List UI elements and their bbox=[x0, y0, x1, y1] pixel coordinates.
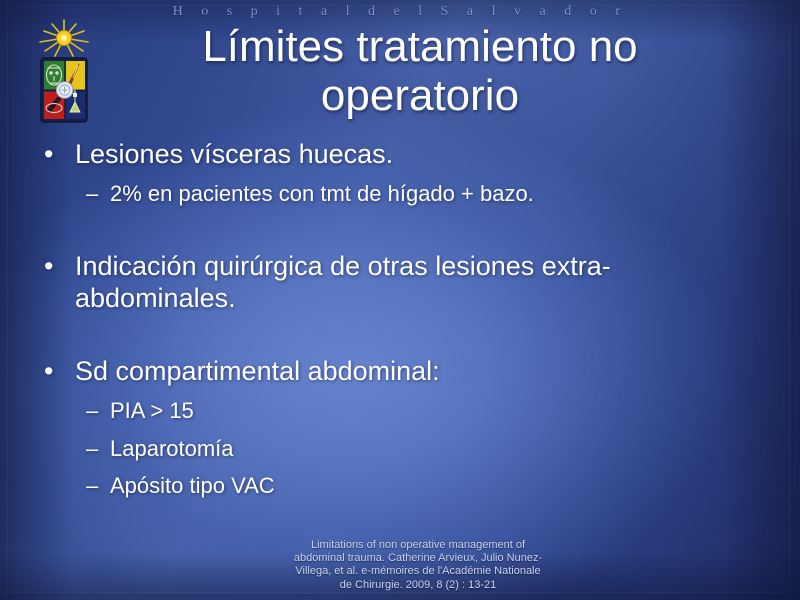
bullet-dash-icon: – bbox=[86, 180, 98, 208]
star-rays-icon bbox=[40, 20, 88, 56]
bullet-item-2: • Indicación quirúrgica de otras lesione… bbox=[0, 250, 800, 315]
slide-title-line-2: operatorio bbox=[120, 71, 720, 120]
coat-of-arms-icon bbox=[33, 18, 95, 130]
sub-bullet-item-1-1: – 2% en pacientes con tmt de hígado + ba… bbox=[0, 180, 800, 208]
bullet-text-3: Sd compartimental abdominal: bbox=[75, 356, 440, 386]
spacer bbox=[0, 315, 800, 355]
sub-bullet-text-3-3: Apósito tipo VAC bbox=[110, 473, 275, 498]
sub-bullet-item-3-1: – PIA > 15 bbox=[0, 397, 800, 425]
bullet-dot-icon: • bbox=[44, 138, 53, 170]
slide-title: Límites tratamiento no operatorio bbox=[120, 22, 720, 121]
sub-bullet-text-1-1: 2% en pacientes con tmt de hígado + bazo… bbox=[110, 181, 534, 206]
spacer bbox=[0, 387, 800, 397]
spacer bbox=[0, 208, 800, 250]
bullet-dash-icon: – bbox=[86, 397, 98, 425]
citation-block: Limitations of non operative management … bbox=[218, 539, 618, 592]
citation-line-3: Villega, et al. e-mémoires de l'Académie… bbox=[218, 565, 618, 578]
hospital-logo bbox=[33, 18, 95, 130]
sub-bullet-item-3-3: – Apósito tipo VAC bbox=[0, 472, 800, 500]
shield-icon bbox=[41, 58, 87, 122]
citation-line-1: Limitations of non operative management … bbox=[218, 539, 618, 552]
bullet-item-1: • Lesiones vísceras huecas. bbox=[0, 138, 800, 170]
bullet-text-2: Indicación quirúrgica de otras lesiones … bbox=[75, 251, 611, 313]
slide-header: H o s p i t a l d e l S a l v a d o r bbox=[0, 4, 800, 20]
bullet-dash-icon: – bbox=[86, 435, 98, 463]
spacer bbox=[0, 170, 800, 180]
presentation-slide: H o s p i t a l d e l S a l v a d o r bbox=[0, 0, 800, 600]
sub-bullet-text-3-1: PIA > 15 bbox=[110, 398, 194, 423]
sub-bullet-item-3-2: – Laparotomía bbox=[0, 435, 800, 463]
slide-title-line-1: Límites tratamiento no bbox=[120, 22, 720, 71]
bullet-text-1: Lesiones vísceras huecas. bbox=[75, 139, 393, 169]
sub-bullet-text-3-2: Laparotomía bbox=[110, 436, 234, 461]
spacer bbox=[0, 425, 800, 435]
bullet-dot-icon: • bbox=[44, 355, 53, 387]
hospital-name-header: H o s p i t a l d e l S a l v a d o r bbox=[0, 4, 800, 20]
spacer bbox=[0, 462, 800, 472]
bullet-dot-icon: • bbox=[44, 250, 53, 282]
bullet-item-3: • Sd compartimental abdominal: bbox=[0, 355, 800, 387]
slide-body: • Lesiones vísceras huecas. – 2% en paci… bbox=[0, 138, 800, 500]
citation-line-2: abdominal trauma. Catherine Arvieux, Jul… bbox=[218, 552, 618, 565]
citation-line-4: de Chirurgie. 2009, 8 (2) : 13-21 bbox=[218, 579, 618, 592]
bullet-dash-icon: – bbox=[86, 472, 98, 500]
